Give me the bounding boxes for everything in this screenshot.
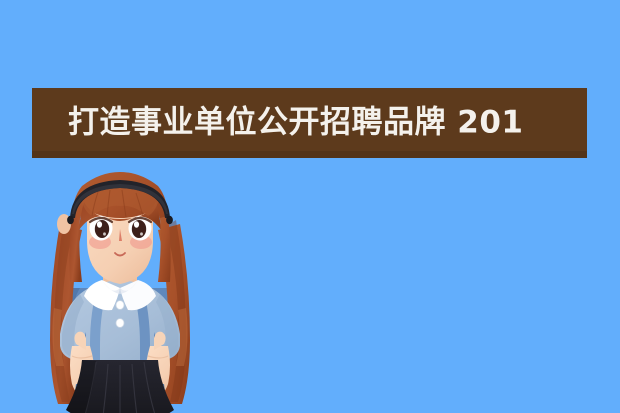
schoolgirl-illustration bbox=[20, 160, 220, 413]
image-canvas: 打造事业单位公开招聘品牌 201 bbox=[0, 0, 620, 413]
pleated-skirt bbox=[66, 360, 174, 413]
banner-title-text: 打造事业单位公开招聘品牌 201 bbox=[68, 108, 524, 139]
title-banner: 打造事业单位公开招聘品牌 201 bbox=[32, 88, 587, 158]
